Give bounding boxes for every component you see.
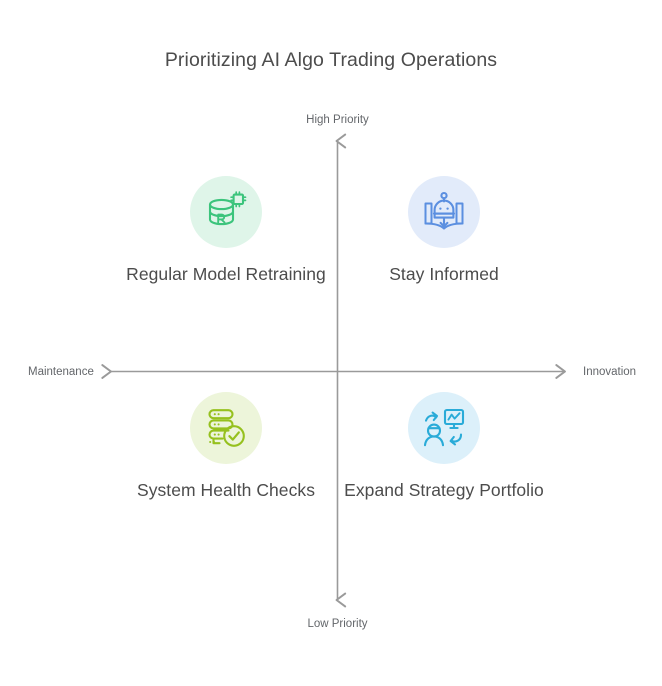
server-check-icon (190, 392, 262, 464)
quadrant-label-expand-strategy-portfolio: Expand Strategy Portfolio (339, 479, 549, 502)
quadrant-label-system-health-checks: System Health Checks (121, 479, 331, 502)
quadrant-bottom-left[interactable]: System Health Checks (121, 392, 331, 502)
quadrant-bottom-right[interactable]: Expand Strategy Portfolio (339, 392, 549, 502)
axis-cross (0, 0, 662, 686)
quadrant-top-right[interactable]: Stay Informed (339, 176, 549, 286)
quadrant-label-stay-informed: Stay Informed (339, 263, 549, 286)
quadrant-top-left[interactable]: Regular Model Retraining (121, 176, 331, 286)
axis-label-high-priority: High Priority (0, 113, 662, 127)
page-title: Prioritizing AI Algo Trading Operations (0, 46, 662, 74)
strategy-monitor-person-icon (408, 392, 480, 464)
axis-label-maintenance: Maintenance (28, 365, 94, 379)
axis-label-low-priority: Low Priority (0, 617, 662, 631)
diagram-canvas: Prioritizing AI Algo Trading Operations … (0, 0, 662, 686)
robot-book-icon (408, 176, 480, 248)
quadrant-label-regular-model-retraining: Regular Model Retraining (121, 263, 331, 286)
database-chip-icon (190, 176, 262, 248)
axis-label-innovation: Innovation (583, 365, 636, 379)
